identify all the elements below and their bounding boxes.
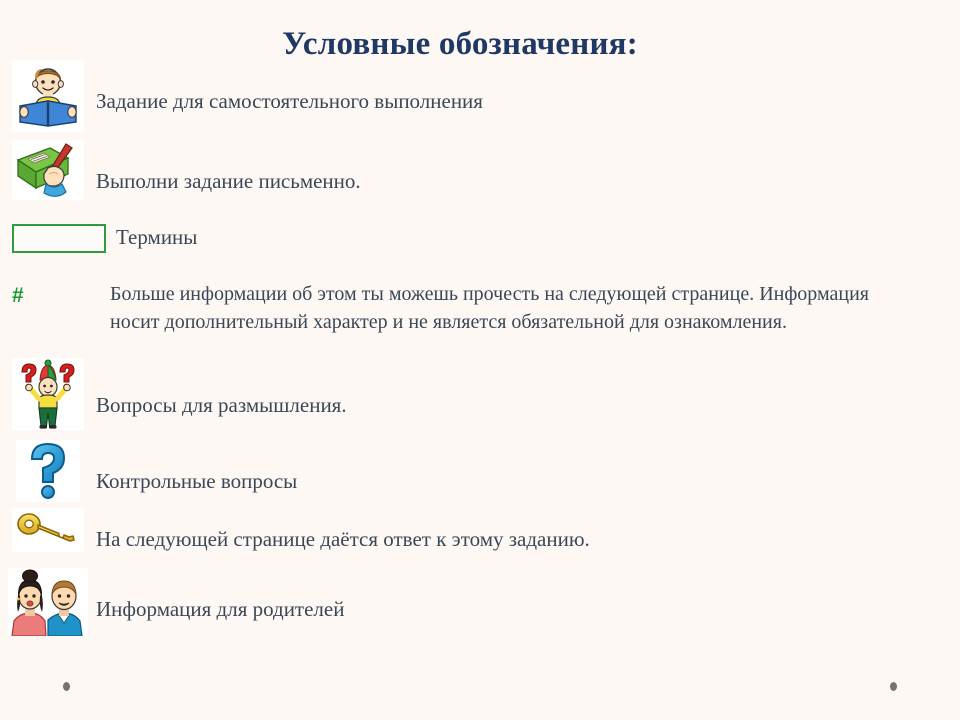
page-dot-left[interactable]	[63, 682, 70, 691]
page-dot-right[interactable]	[890, 682, 897, 691]
legend-row: На следующей странице даётся ответ к это…	[0, 508, 960, 554]
legend-row: Вопросы для размышления.	[0, 358, 960, 430]
legend-row: # Больше информации об этом ты можешь пр…	[0, 280, 960, 337]
slide-canvas: Условные обозначения:	[0, 0, 960, 720]
legend-item-label: Задание для самостоятельного выполнения	[96, 60, 483, 116]
blue-question-mark-icon	[0, 440, 96, 502]
legend-item-label: Вопросы для размышления.	[96, 358, 347, 420]
hash-symbol-icon: #	[0, 280, 110, 306]
legend-item-label: Информация для родителей	[96, 568, 344, 624]
legend-row: Информация для родителей	[0, 568, 960, 636]
legend-row: Контрольные вопросы	[0, 440, 960, 502]
legend-item-label: Термины	[116, 222, 197, 252]
legend-row: Задание для самостоятельного выполнения	[0, 60, 960, 132]
legend-item-label: Выполни задание письменно.	[96, 140, 361, 196]
legend-item-label: На следующей странице даётся ответ к это…	[96, 508, 590, 554]
boy-reading-book-icon	[0, 60, 96, 132]
legend-row: Термины	[0, 222, 960, 253]
jester-boy-question-marks-icon	[0, 358, 96, 430]
green-outlined-rectangle-icon	[0, 222, 110, 253]
legend-row: Выполни задание письменно.	[0, 140, 960, 200]
hash-symbol-glyph: #	[0, 280, 24, 306]
legend-item-label: Больше информации об этом ты можешь проч…	[110, 280, 890, 337]
gold-key-icon	[0, 508, 96, 552]
hand-writing-notebook-icon	[0, 140, 96, 200]
page-title: Условные обозначения:	[0, 26, 920, 63]
parents-couple-icon	[0, 568, 96, 636]
legend-item-label: Контрольные вопросы	[96, 440, 297, 496]
terms-box-shape	[12, 224, 106, 253]
